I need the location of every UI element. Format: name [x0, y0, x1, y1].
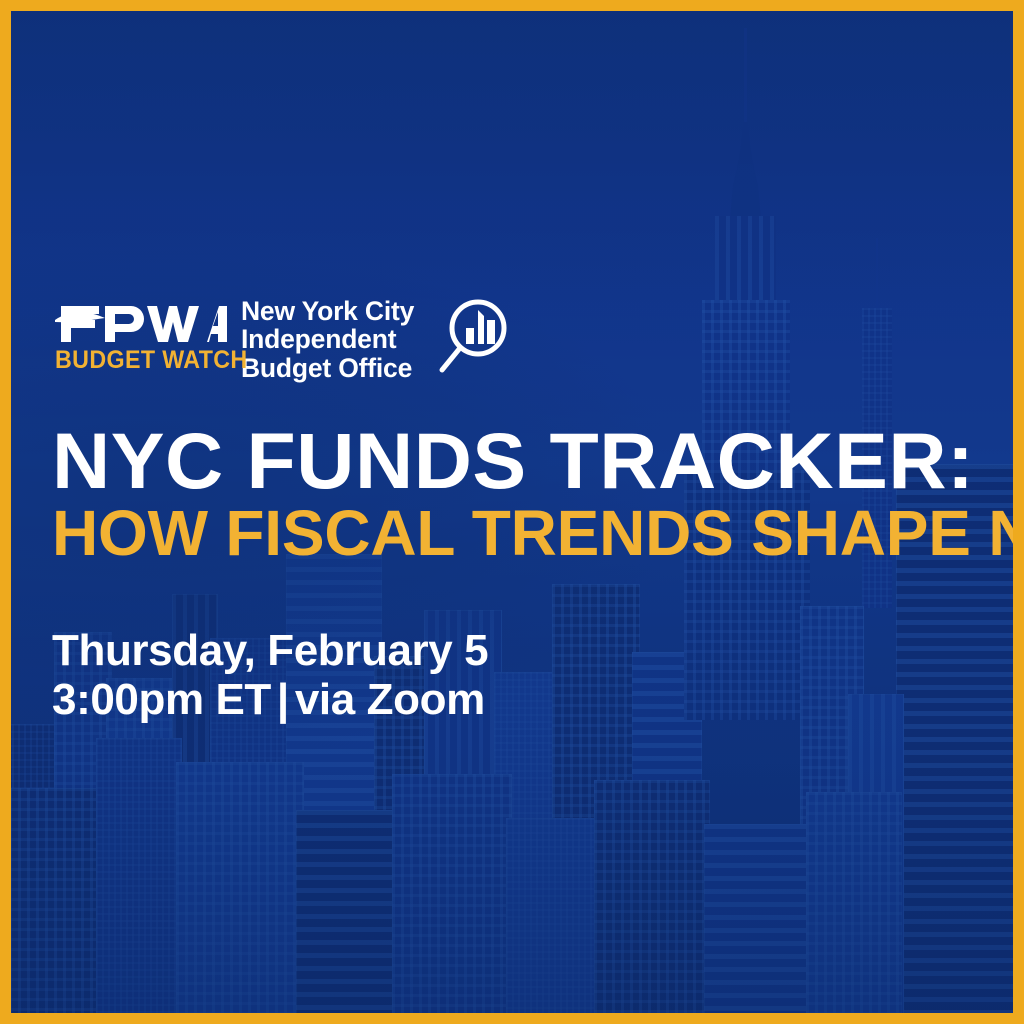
headline-line-2: HOW FISCAL TRENDS SHAPE NYC’S FUTURE	[52, 503, 1024, 564]
event-separator: |	[271, 675, 295, 724]
event-time: 3:00pm ET	[52, 675, 271, 724]
fpwa-logo: BUDGET WATCH	[55, 296, 227, 375]
event-date: Thursday, February 5	[52, 626, 488, 675]
ibo-line-2: Independent	[241, 325, 414, 353]
logo-lockup: BUDGET WATCH New York City Independent B…	[55, 296, 508, 382]
magnifying-glass-buildings-icon	[436, 296, 508, 381]
headline: NYC FUNDS TRACKER: HOW FISCAL TRENDS SHA…	[52, 424, 1024, 564]
event-platform: via Zoom	[295, 675, 485, 724]
ibo-line-3: Budget Office	[241, 354, 414, 382]
event-time-platform: 3:00pm ET|via Zoom	[52, 675, 488, 724]
fpwa-tagline: BUDGET WATCH	[55, 346, 215, 375]
event-promo-poster: BUDGET WATCH New York City Independent B…	[0, 0, 1024, 1024]
headline-line-1: NYC FUNDS TRACKER:	[52, 424, 1024, 497]
fpwa-wordmark-icon	[55, 296, 227, 344]
ibo-line-1: New York City	[241, 297, 414, 325]
ibo-logo-text: New York City Independent Budget Office	[241, 296, 414, 382]
event-details: Thursday, February 5 3:00pm ET|via Zoom	[52, 626, 488, 725]
